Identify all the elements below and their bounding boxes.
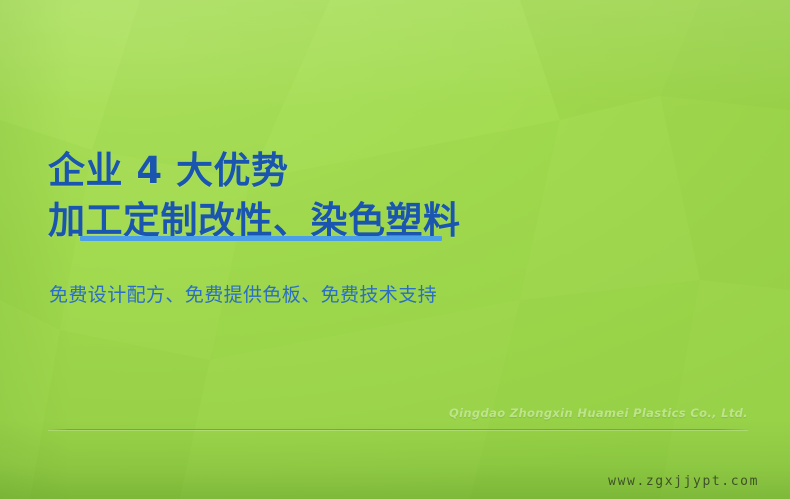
subtitle: 免费设计配方、免费提供色板、免费技术支持: [49, 280, 437, 307]
promo-banner: 企业 4 大优势 加工定制改性、染色塑料 免费设计配方、免费提供色板、免费技术支…: [0, 0, 790, 499]
headline-underline: [80, 236, 442, 241]
divider: [48, 429, 748, 430]
company-name: Qingdao Zhongxin Huamei Plastics Co., Lt…: [449, 406, 748, 420]
headline: 企业 4 大优势 加工定制改性、染色塑料: [48, 146, 461, 246]
banner-content: 企业 4 大优势 加工定制改性、染色塑料 免费设计配方、免费提供色板、免费技术支…: [0, 0, 790, 499]
headline-line-1: 企业 4 大优势: [48, 146, 461, 196]
site-watermark: www.zgxjjypt.com: [608, 474, 759, 489]
